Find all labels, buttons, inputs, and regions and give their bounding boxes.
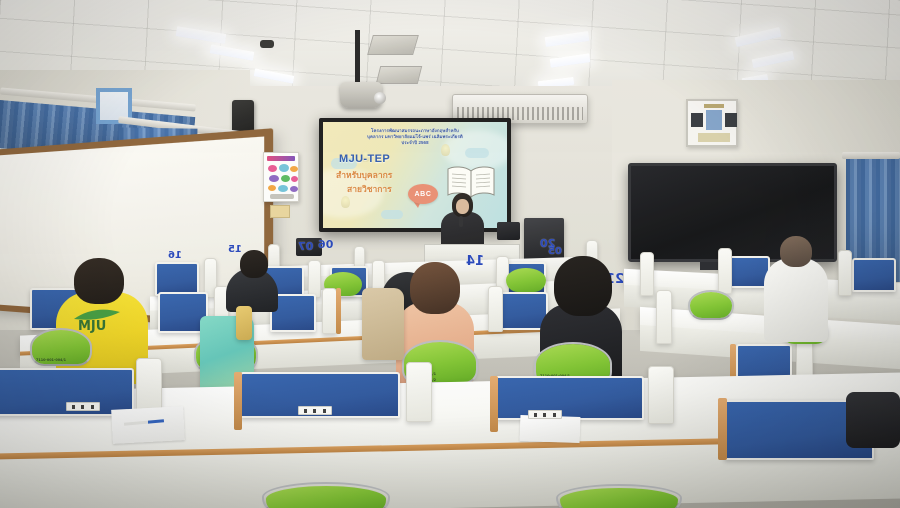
slide-heading-line3: ประจำปี 2568 [333,140,497,146]
carrel-partition [852,258,896,292]
cloud-icon [381,210,403,219]
projector-mount-pole [355,30,360,86]
poster-graphic [290,166,298,172]
presenter-face [456,199,469,214]
attendee-white-shirt-body [764,258,828,342]
poster-graphic [269,175,279,182]
paper-sheet [520,415,581,443]
carrel-partition [155,262,199,296]
carrel-divider [656,290,672,344]
abc-speech-bubble: ABC [408,184,438,204]
poster-graphic [290,186,298,192]
carrel-divider-front [648,366,674,424]
carrel-divider [322,288,337,334]
poster-graphic [278,185,288,192]
desk-number-16: 16 [168,250,182,261]
paper-bag [362,288,404,360]
attendee-yellow-head [74,258,124,304]
carrel-divider [308,260,321,298]
tote-bag-strap [236,306,252,340]
chair-frame [262,482,390,508]
notice-photo [691,113,703,127]
mju-logo-icon: MJU [70,303,128,333]
carrel-divider-front [406,362,432,422]
carrel-divider-trim [718,398,727,460]
projection-screen: โครงการพัฒนาสมรรถนะภาษาอังกฤษสำหรับ บุคล… [319,118,511,232]
poster-graphic [268,185,276,191]
attendee-white-shirt-head [780,236,812,267]
poster-graphic [279,164,289,172]
poster-title-bar [267,156,295,161]
desk-number-06: 06 [318,238,333,251]
lightbulb-icon [341,196,350,208]
poster-graphic [291,176,298,182]
chair [506,268,546,292]
carrel-divider [838,250,852,296]
desk-number-14: 14 [466,254,484,269]
slide-subtitle-line1: สำหรับบุคลากร [336,168,392,182]
infographic-poster [263,152,299,202]
presentation-slide: โครงการพัฒนาสมรรถนะภาษาอังกฤษสำหรับ บุคล… [323,122,507,228]
carrel-partition-front [494,376,644,420]
attendee-peach-head [410,262,460,314]
attendee-center-dark-head [554,256,612,316]
power-outlet[interactable] [298,406,332,415]
office-chair [846,392,900,448]
poster-graphic [268,165,277,172]
desk-number-07: 07 [298,240,313,253]
notice-photo [706,110,722,130]
chair-frame [688,290,734,320]
notice-photo [698,133,730,142]
carrel-divider [718,248,732,294]
notice-photo [725,113,737,127]
slide-heading: โครงการพัฒนาสมรรถนะภาษาอังกฤษสำหรับ บุคล… [333,128,497,147]
wall-card [270,205,290,218]
podium-monitor[interactable] [497,222,520,240]
curtain-rail [842,152,900,159]
slide-program-name: MJU-TEP [339,153,390,165]
notice-header-strip [704,104,724,108]
svg-text:MJU: MJU [78,319,106,333]
paper-sheet [111,406,185,444]
open-book-icon [445,164,497,200]
classroom-photo: โครงการพัฒนาสมรรถนะภาษาอังกฤษสำหรับ บุคล… [0,0,900,508]
slide-subtitle-line2: สายวิชาการ [347,182,392,196]
poster-graphic [281,175,290,182]
ceiling-vent [367,35,419,55]
desk-number-15: 15 [228,244,242,255]
ceiling-vent [376,66,422,84]
asset-tag: 7110-001-004/1 [36,358,66,362]
power-outlet[interactable] [528,410,562,419]
carrel-divider [488,286,503,332]
carrel-divider-trim [336,288,341,334]
cloud-icon [465,148,489,158]
power-outlet[interactable] [66,402,100,411]
notice-board [686,99,738,147]
carrel-divider-trim [234,372,242,430]
projector-lens-icon [374,92,386,104]
chair-frame [556,484,682,508]
desk-number-05: 05 [548,246,562,257]
poster-graphic [270,194,294,199]
carrel-divider [640,252,654,296]
smoke-detector-icon [260,40,274,48]
microphone-icon [459,216,463,227]
attendee-left-dark-head [240,250,268,278]
carrel-divider-trim [490,376,498,432]
